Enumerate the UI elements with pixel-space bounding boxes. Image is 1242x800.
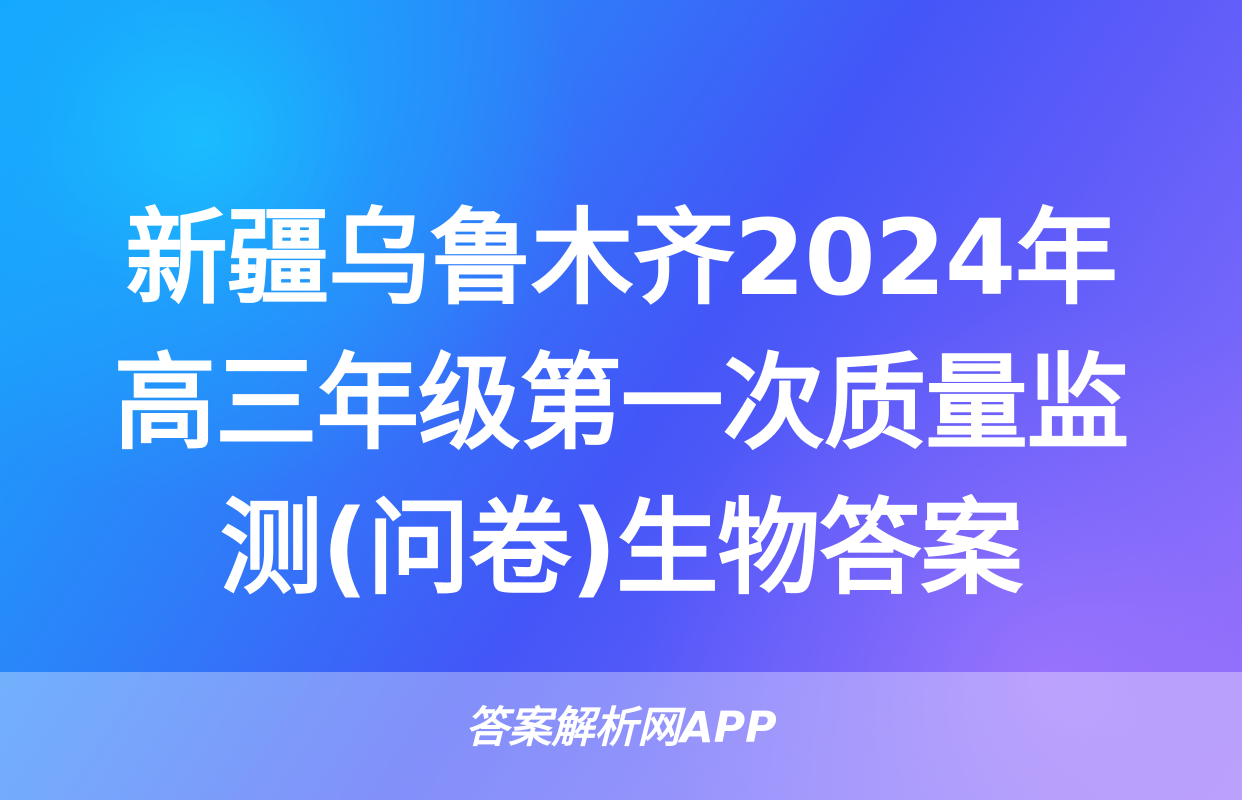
poster-title-block: 新疆乌鲁木齐2024年高三年级第一次质量监测(问卷)生物答案 — [0, 186, 1242, 621]
poster-canvas: 新疆乌鲁木齐2024年高三年级第一次质量监测(问卷)生物答案 答案解析网APP — [0, 0, 1242, 800]
bottom-overlay-band — [0, 672, 1242, 800]
page-title: 新疆乌鲁木齐2024年高三年级第一次质量监测(问卷)生物答案 — [80, 186, 1162, 621]
